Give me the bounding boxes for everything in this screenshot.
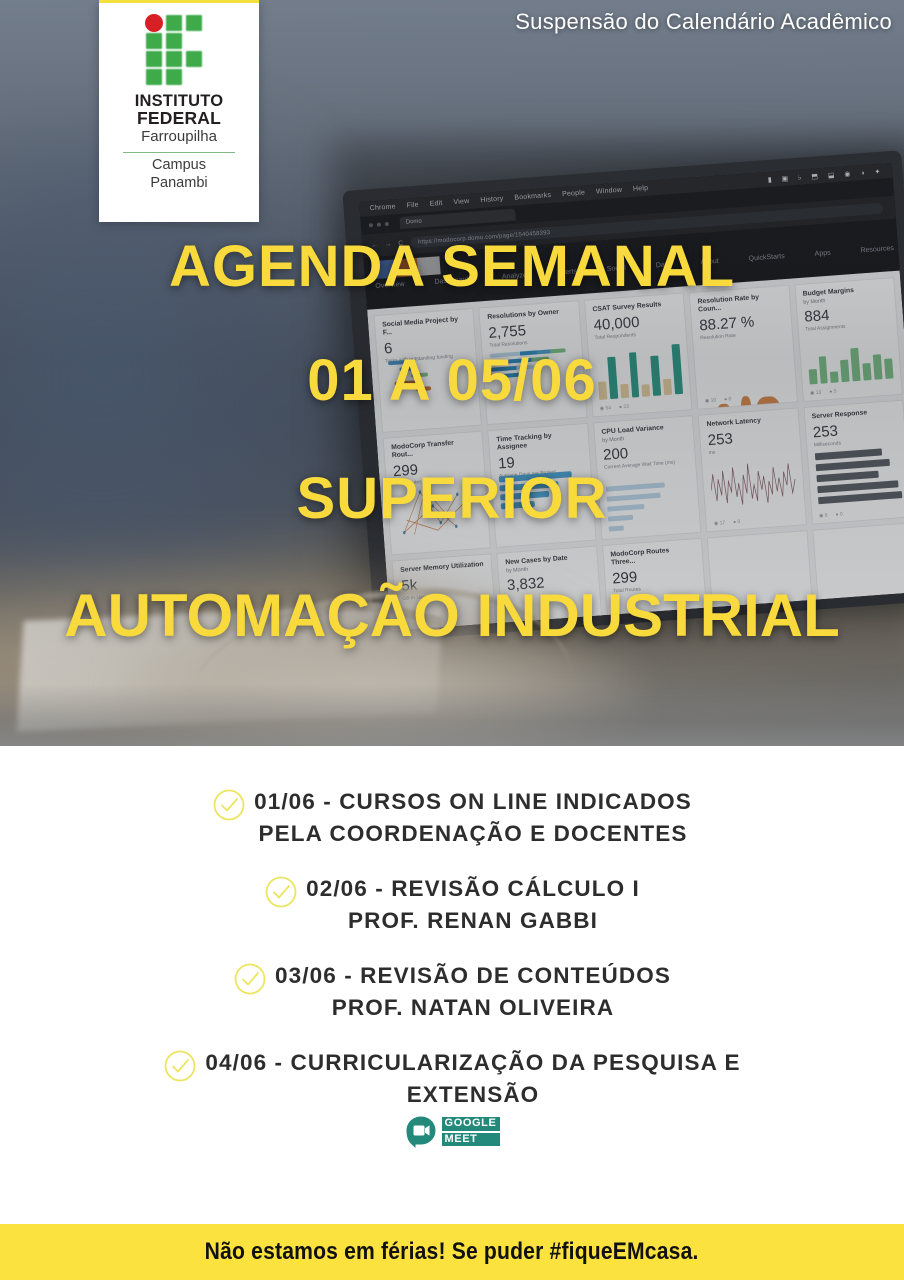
agenda-item-line1: 02/06 - REVISÃO CÁLCULO I bbox=[306, 876, 640, 901]
agenda-item-text: 02/06 - REVISÃO CÁLCULO I PROF. RENAN GA… bbox=[306, 873, 640, 937]
check-circle-icon bbox=[212, 788, 246, 822]
footer-banner: Não estamos em férias! Se puder #fiqueEM… bbox=[0, 1224, 904, 1280]
agenda-item: 03/06 - REVISÃO DE CONTEÚDOS PROF. NATAN… bbox=[0, 960, 904, 1024]
google-meet-block: GOOGLE MEET bbox=[0, 1115, 904, 1149]
logo-campus-city: Panambi bbox=[150, 175, 207, 193]
agenda-item-line1: 01/06 - CURSOS ON LINE INDICADOS bbox=[254, 789, 692, 814]
agenda-item-line2: PELA COORDENAÇÃO E DOCENTES bbox=[254, 818, 692, 850]
hero-title-line-2: 01 A 05/06 bbox=[0, 352, 904, 410]
agenda-item-text: 01/06 - CURSOS ON LINE INDICADOS PELA CO… bbox=[254, 786, 692, 850]
logo-campus-name: Farroupilha bbox=[141, 128, 217, 145]
agenda-list: 01/06 - CURSOS ON LINE INDICADOS PELA CO… bbox=[0, 746, 904, 1224]
instituto-federal-logo-icon bbox=[140, 13, 218, 87]
logo-divider bbox=[123, 152, 235, 154]
agenda-item-line1: 04/06 - CURRICULARIZAÇÃO DA PESQUISA E bbox=[205, 1050, 740, 1075]
google-meet-logo[interactable]: GOOGLE MEET bbox=[404, 1115, 501, 1149]
hero-title-line-3: SUPERIOR bbox=[0, 470, 904, 528]
agenda-item-line2: EXTENSÃO bbox=[205, 1079, 740, 1111]
logo-campus-label: Campus bbox=[152, 157, 206, 175]
hero-title-line-1: AGENDA SEMANAL bbox=[0, 238, 904, 296]
check-circle-icon bbox=[264, 875, 298, 909]
institution-logo-card: INSTITUTO FEDERAL Farroupilha Campus Pan… bbox=[99, 0, 259, 222]
agenda-item: 02/06 - REVISÃO CÁLCULO I PROF. RENAN GA… bbox=[0, 873, 904, 937]
agenda-item-line2: PROF. NATAN OLIVEIRA bbox=[275, 992, 671, 1024]
meet-badge-meet: MEET bbox=[442, 1133, 501, 1146]
check-circle-icon bbox=[233, 962, 267, 996]
hero-title-block: AGENDA SEMANAL 01 A 05/06 SUPERIOR AUTOM… bbox=[0, 238, 904, 646]
agenda-item-text: 03/06 - REVISÃO DE CONTEÚDOS PROF. NATAN… bbox=[275, 960, 671, 1024]
calendar-suspension-notice: Suspensão do Calendário Acadêmico bbox=[515, 9, 892, 35]
meet-badge-google: GOOGLE bbox=[442, 1117, 501, 1130]
hero-title-line-4: AUTOMAÇÃO INDUSTRIAL bbox=[0, 586, 904, 646]
agenda-item-text: 04/06 - CURRICULARIZAÇÃO DA PESQUISA E E… bbox=[205, 1047, 740, 1111]
check-circle-icon bbox=[163, 1049, 197, 1083]
agenda-item-line2: PROF. RENAN GABBI bbox=[306, 905, 640, 937]
poster-root: Chrome File Edit View History Bookmarks … bbox=[0, 0, 904, 1280]
agenda-item: 01/06 - CURSOS ON LINE INDICADOS PELA CO… bbox=[0, 786, 904, 850]
agenda-item-line1: 03/06 - REVISÃO DE CONTEÚDOS bbox=[275, 963, 671, 988]
footer-message: Não estamos em férias! Se puder #fiqueEM… bbox=[205, 1238, 699, 1266]
logo-institute-line2: FEDERAL bbox=[137, 110, 221, 128]
google-meet-icon[interactable] bbox=[404, 1115, 438, 1149]
google-meet-wordmark: GOOGLE MEET bbox=[442, 1117, 501, 1146]
agenda-item: 04/06 - CURRICULARIZAÇÃO DA PESQUISA E E… bbox=[0, 1047, 904, 1111]
